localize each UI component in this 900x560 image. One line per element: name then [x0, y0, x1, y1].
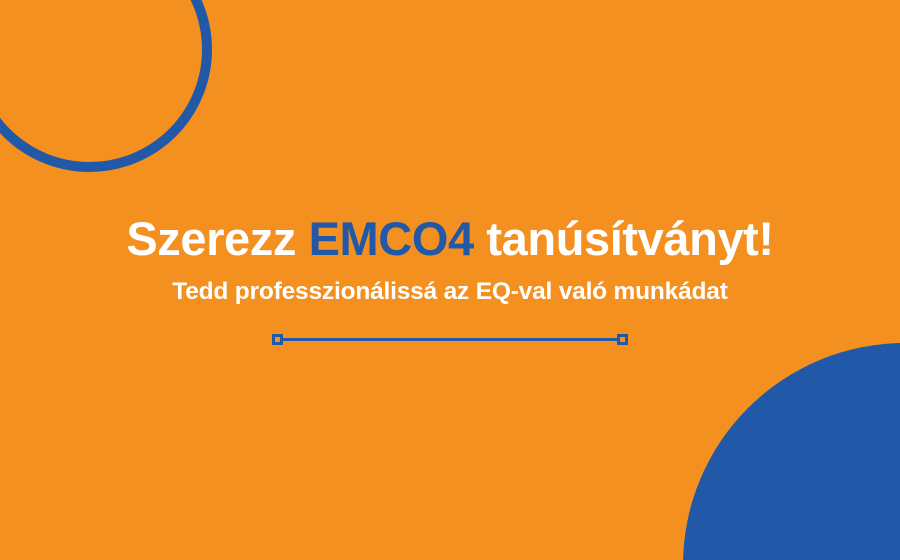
divider-line: [277, 338, 623, 341]
banner-content: Szerezz EMCO4 tanúsítványt! Tedd profess…: [0, 0, 900, 560]
decorative-divider: [272, 332, 628, 346]
divider-right-handle-icon: [617, 334, 628, 345]
banner-subtitle: Tedd professzionálissá az EQ-val való mu…: [172, 278, 727, 306]
banner-headline: Szerezz EMCO4 tanúsítványt!: [126, 214, 773, 265]
promo-banner: Szerezz EMCO4 tanúsítványt! Tedd profess…: [0, 0, 900, 560]
headline-trail-text: tanúsítványt!: [474, 212, 774, 265]
headline-lead-text: Szerezz: [126, 212, 308, 265]
divider-left-handle-icon: [272, 334, 283, 345]
headline-brand-text: EMCO4: [309, 212, 474, 265]
